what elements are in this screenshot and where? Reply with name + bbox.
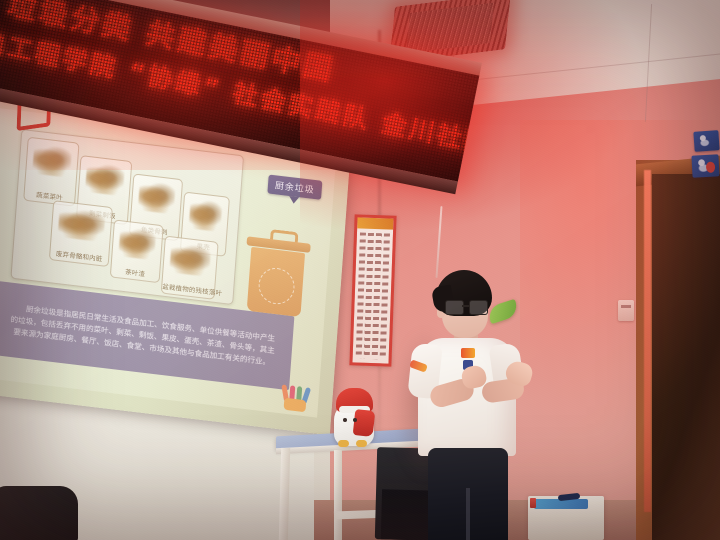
dark-trousers: [428, 448, 508, 540]
glasses-bridge: [462, 305, 469, 307]
door-light-strip: [644, 170, 651, 512]
plush-eye: [353, 418, 357, 422]
plush-foot: [356, 440, 367, 447]
table-leg: [279, 448, 290, 540]
slide-note-text: 厨余垃圾是指居民日常生活及食品加工、饮食服务、单位供餐等活动中产生的垃圾，包括丢…: [6, 302, 279, 369]
plush-santa-hat: [336, 388, 373, 412]
doorway[interactable]: [636, 160, 720, 540]
glasses-icon: [445, 300, 489, 313]
accessibility-sign-icon: [691, 154, 719, 177]
plush-scarf: [353, 409, 376, 437]
hand-logo-icon: [278, 379, 314, 413]
photo-scene: 蔬菜菜叶 剩菜剩饭 鱼类骨刺 果壳: [0, 0, 720, 540]
box-tag: [530, 498, 536, 508]
waste-cell-caption: 茶叶渣: [111, 264, 159, 280]
sign-glyph: [695, 157, 717, 174]
sign-glyph: [697, 133, 717, 148]
plush-foot: [338, 440, 349, 447]
accessibility-sign-icon: [693, 130, 719, 152]
table-leg: [334, 450, 342, 540]
wall-sensor: [618, 300, 634, 321]
shirt-logo-top: [461, 348, 475, 358]
glasses-lens-right: [469, 300, 488, 315]
hand-palm: [284, 398, 307, 413]
santa-plush-toy: [330, 388, 378, 446]
plush-eye: [343, 418, 347, 422]
backpack: [0, 486, 78, 540]
waste-cell-caption: 盆栽植物的残枝落叶: [162, 281, 214, 297]
door-opening: [652, 174, 720, 540]
glasses-lens-left: [445, 300, 464, 315]
supply-box: [528, 496, 604, 540]
